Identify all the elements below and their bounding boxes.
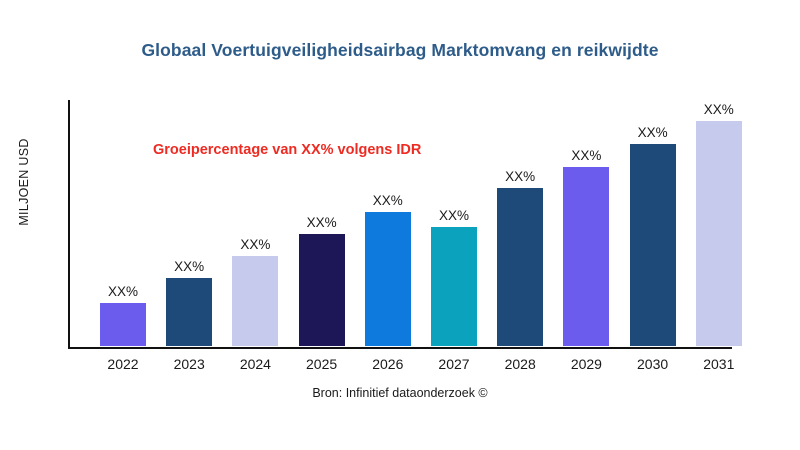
bar-value-label-2025: XX%: [287, 215, 357, 230]
x-tick-2027: 2027: [419, 356, 489, 372]
x-tick-2030: 2030: [618, 356, 688, 372]
bar-2025[interactable]: XX%: [299, 234, 345, 346]
bar-value-label-2022: XX%: [88, 284, 158, 299]
bar-value-label-2026: XX%: [353, 193, 423, 208]
bar-2022[interactable]: XX%: [100, 303, 146, 346]
bar-2027[interactable]: XX%: [431, 227, 477, 346]
bar-2026[interactable]: XX%: [365, 212, 411, 346]
bar-2029[interactable]: XX%: [563, 167, 609, 346]
bar-rect-2029[interactable]: [563, 167, 609, 346]
bar-rect-2023[interactable]: [166, 278, 212, 346]
x-tick-2029: 2029: [551, 356, 621, 372]
bar-rect-2031[interactable]: [696, 121, 742, 346]
x-axis-line: [68, 347, 732, 349]
bar-2028[interactable]: XX%: [497, 188, 543, 346]
bar-2030[interactable]: XX%: [630, 144, 676, 346]
x-tick-2026: 2026: [353, 356, 423, 372]
bar-rect-2026[interactable]: [365, 212, 411, 346]
source-note: Bron: Infinitief dataonderzoek ©: [0, 386, 800, 400]
bar-value-label-2023: XX%: [154, 259, 224, 274]
bar-rect-2030[interactable]: [630, 144, 676, 346]
x-tick-2024: 2024: [220, 356, 290, 372]
bar-value-label-2030: XX%: [618, 125, 688, 140]
bar-2024[interactable]: XX%: [232, 256, 278, 346]
y-axis-label: MILJOEN USD: [17, 122, 31, 242]
bar-value-label-2027: XX%: [419, 208, 489, 223]
bar-2031[interactable]: XX%: [696, 121, 742, 346]
x-tick-2025: 2025: [287, 356, 357, 372]
bar-value-label-2024: XX%: [220, 237, 290, 252]
growth-rate-annotation: Groeipercentage van XX% volgens IDR: [153, 142, 421, 158]
bar-value-label-2028: XX%: [485, 169, 555, 184]
plot-area: Groeipercentage van XX% volgens IDR XX%X…: [68, 100, 732, 348]
bar-rect-2025[interactable]: [299, 234, 345, 346]
bar-rect-2024[interactable]: [232, 256, 278, 346]
bar-value-label-2029: XX%: [551, 148, 621, 163]
x-tick-2028: 2028: [485, 356, 555, 372]
bar-rect-2028[interactable]: [497, 188, 543, 346]
x-tick-2031: 2031: [684, 356, 754, 372]
bar-value-label-2031: XX%: [684, 102, 754, 117]
x-tick-2023: 2023: [154, 356, 224, 372]
bar-2023[interactable]: XX%: [166, 278, 212, 346]
chart-title: Globaal Voertuigveiligheidsairbag Markto…: [0, 40, 800, 61]
bar-rect-2022[interactable]: [100, 303, 146, 346]
bar-chart: Globaal Voertuigveiligheidsairbag Markto…: [0, 0, 800, 450]
x-tick-2022: 2022: [88, 356, 158, 372]
bar-rect-2027[interactable]: [431, 227, 477, 346]
y-axis-line: [68, 100, 70, 349]
